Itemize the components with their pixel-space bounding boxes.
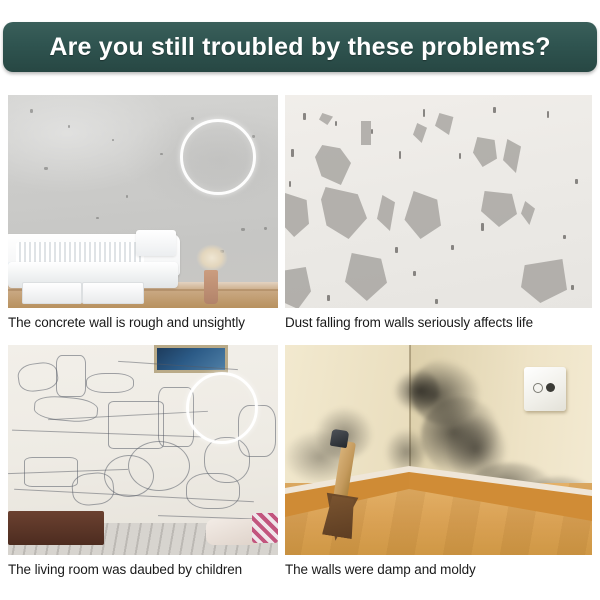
panel-peeling-paint[interactable]: Dust falling from walls seriously affect…	[285, 95, 592, 330]
pillow	[136, 230, 176, 256]
wall-socket[interactable]	[524, 367, 566, 411]
panel-child-scribbles[interactable]: The living room was daubed by children	[8, 345, 278, 577]
headline-text: Are you still troubled by these problems…	[49, 33, 550, 62]
circle-highlight-icon	[180, 119, 256, 195]
scraper-cap	[330, 429, 349, 448]
vase	[204, 270, 218, 304]
headline-banner-surface: Are you still troubled by these problems…	[3, 22, 597, 72]
panel-caption: Dust falling from walls seriously affect…	[285, 308, 592, 330]
sofa	[8, 511, 104, 545]
photo-damp-mold	[285, 345, 592, 555]
panel-concrete-wall[interactable]: The concrete wall is rough and unsightly	[8, 95, 278, 330]
problem-photo-grid: The concrete wall is rough and unsightly	[0, 95, 600, 590]
photo-peeling-paint	[285, 95, 592, 308]
framed-picture	[154, 345, 228, 373]
panel-damp-mold[interactable]: The walls were damp and moldy	[285, 345, 592, 577]
panel-caption: The walls were damp and moldy	[285, 555, 592, 577]
headline-banner: Are you still troubled by these problems…	[3, 22, 597, 72]
striped-cushion	[252, 513, 278, 543]
photo-concrete-wall	[8, 95, 278, 308]
photo-child-scribbles	[8, 345, 278, 555]
panel-caption: The concrete wall is rough and unsightly	[8, 308, 278, 330]
panel-caption: The living room was daubed by children	[8, 555, 278, 577]
